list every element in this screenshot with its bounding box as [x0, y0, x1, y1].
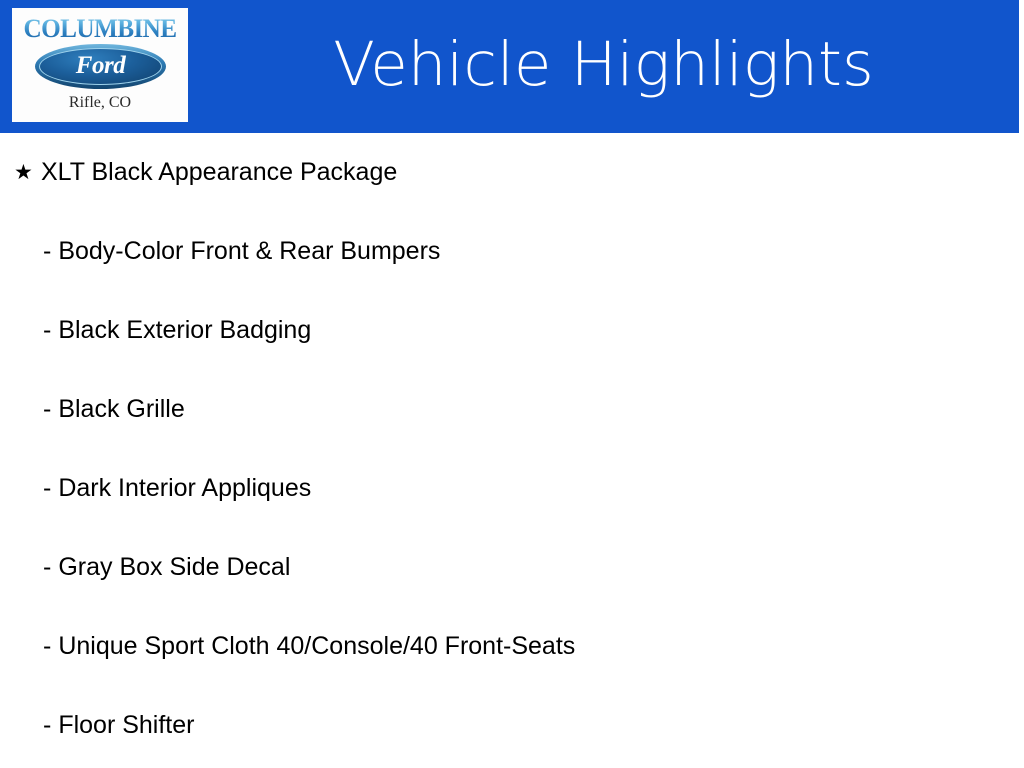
- ford-oval-icon: Ford: [35, 44, 166, 89]
- ford-script-text: Ford: [35, 44, 166, 89]
- highlight-item-label: Floor Shifter: [58, 711, 194, 740]
- dash-bullet-icon: -: [43, 474, 51, 503]
- dash-bullet-icon: -: [43, 632, 51, 661]
- highlight-item-label: Dark Interior Appliques: [58, 474, 311, 503]
- highlight-item: -Black Grille: [0, 389, 1024, 429]
- highlight-item-label: XLT Black Appearance Package: [41, 158, 397, 187]
- dash-bullet-icon: -: [43, 711, 51, 740]
- highlight-item-label: Gray Box Side Decal: [58, 553, 290, 582]
- highlight-item: -Black Exterior Badging: [0, 310, 1024, 350]
- highlight-item-label: Body-Color Front & Rear Bumpers: [58, 237, 440, 266]
- highlight-item-label: Black Exterior Badging: [58, 316, 311, 345]
- dealer-logo: COLUMBINE Ford Rifle, CO: [12, 8, 188, 122]
- star-bullet-icon: ★: [14, 162, 41, 183]
- logo-location-text: Rifle, CO: [12, 94, 188, 112]
- highlights-list: ★XLT Black Appearance Package-Body-Color…: [0, 133, 1024, 768]
- highlight-item-label: Unique Sport Cloth 40/Console/40 Front-S…: [58, 632, 575, 661]
- highlight-item: -Body-Color Front & Rear Bumpers: [0, 231, 1024, 271]
- highlight-item: ★XLT Black Appearance Package: [0, 152, 1024, 192]
- highlight-item: -Floor Shifter: [0, 705, 1024, 745]
- highlight-item: -Gray Box Side Decal: [0, 547, 1024, 587]
- page-title: Vehicle Highlights: [188, 0, 1019, 133]
- dash-bullet-icon: -: [43, 395, 51, 424]
- dash-bullet-icon: -: [43, 316, 51, 345]
- dash-bullet-icon: -: [43, 553, 51, 582]
- logo-inner: COLUMBINE Ford Rifle, CO: [12, 8, 188, 122]
- dash-bullet-icon: -: [43, 237, 51, 266]
- highlight-item: -Dark Interior Appliques: [0, 468, 1024, 508]
- header-banner: COLUMBINE Ford Rifle, CO Vehicle Highlig…: [0, 0, 1019, 133]
- highlight-item-label: Black Grille: [58, 395, 184, 424]
- logo-brand-top-text: COLUMBINE: [15, 14, 186, 44]
- highlight-item: -Unique Sport Cloth 40/Console/40 Front-…: [0, 626, 1024, 666]
